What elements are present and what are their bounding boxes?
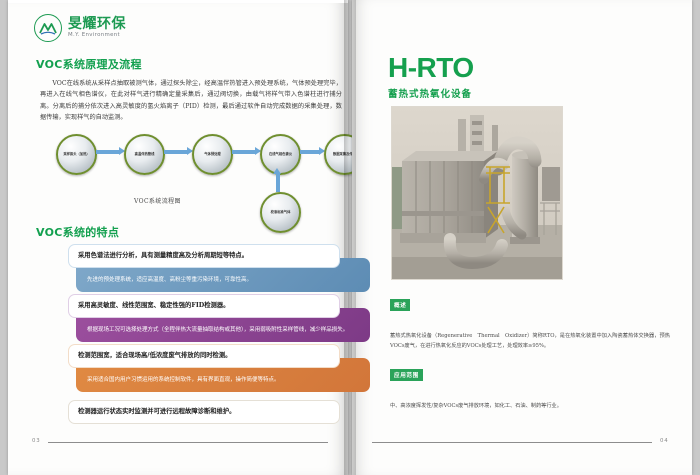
page-right-footer-rule	[372, 442, 652, 443]
flow-arrow-4	[300, 150, 320, 154]
feature-primary-panel: 采用高灵敏度、线性范围宽、稳定性强的FID检测器。	[68, 294, 340, 318]
page-gutter	[344, 0, 356, 475]
page-left-footer-rule	[48, 442, 328, 443]
feature-primary-panel: 采用色谱法进行分析，具有测量精度高及分析周期短等特点。	[68, 244, 340, 268]
mountain-circle-logo-icon	[34, 14, 62, 42]
section-heading-voc-features: VOC系统的特点	[36, 224, 119, 240]
section-overview: 概述 蓄热式热氧化设备（Regenerative Thermal Oxidize…	[390, 292, 670, 351]
product-title: H-RTO	[388, 54, 474, 82]
section-application-scope: 应用范围 中、高浓度挥发性/复杂VOCs废气排放环境，如化工、石油、制药等行业。	[390, 362, 670, 411]
feature-primary-panel: 检测范围宽，适合现场高/低浓度废气排放的同时检测。	[68, 344, 340, 368]
flow-node-label: 气体预处理	[198, 152, 228, 156]
feature-primary-panel: 检测器运行状态实时监测并可进行远程故障诊断和维护。	[68, 400, 340, 424]
feature-block-fid-detector: 根据现场工况可选择处理方式（全程伴热大流量抽取结构或其他），采用弱吸附性采样管线…	[68, 294, 340, 318]
flow-arrow-3	[232, 150, 256, 154]
feature-block-detection-range: 采用适合国内用户习惯运用的系统控制软件，具有界面直观，操作简便等特点。 检测范围…	[68, 344, 340, 368]
flow-node-label: 采样探头（加热）	[62, 152, 92, 156]
brand-logo: 旻耀环保 M.Y. Environment	[34, 14, 126, 42]
feature-primary-text: 采用高灵敏度、线性范围宽、稳定性强的FID检测器。	[78, 301, 330, 311]
voc-flow-diagram: 采样探头（加热） 高温伴热管线 气体预处理 在线气相色谱仪 数据采集及传输 校准…	[38, 134, 348, 218]
feature-secondary-text: 根据现场工况可选择处理方式（全程伴热大流量抽取结构或其他），采用弱吸附性采样管线…	[87, 316, 359, 335]
section-body-overview: 蓄热式热氧化设备（Regenerative Thermal Oxidizer）简…	[390, 331, 670, 351]
brochure-spread: 旻耀环保 M.Y. Environment VOC系统原理及流程 VOC在线系统…	[0, 0, 700, 475]
feature-block-remote-monitoring: 检测器运行状态实时监测并可进行远程故障诊断和维护。	[68, 400, 340, 424]
flow-node-label: 校准标准气体	[266, 210, 296, 214]
flow-arrow-1	[96, 150, 120, 154]
page-number-right: 04	[660, 438, 668, 444]
product-subtitle: 蓄热式热氧化设备	[388, 86, 474, 100]
page-left-top-band	[8, 0, 348, 3]
flow-node-heated-line: 高温伴热管线	[124, 134, 165, 175]
flow-node-sampling-probe: 采样探头（加热）	[56, 134, 97, 175]
section-body-application-scope: 中、高浓度挥发性/复杂VOCs废气排放环境，如化工、石油、制药等行业。	[390, 401, 670, 411]
product-title-block: H-RTO 蓄热式热氧化设备	[388, 54, 474, 100]
section-label-overview: 概述	[390, 299, 410, 311]
rto-equipment-photo	[391, 106, 563, 280]
flow-node-calibration-gas: 校准标准气体	[260, 192, 301, 233]
flow-arrow-2	[164, 150, 188, 154]
brand-name-cn: 旻耀环保	[68, 17, 126, 31]
flow-node-label: 在线气相色谱仪	[266, 152, 296, 156]
feature-secondary-text: 采用适合国内用户习惯运用的系统控制软件，具有界面直观，操作简便等特点。	[87, 366, 359, 385]
feature-block-chromatography: 先进的预处理系统，适应高温度、高粉尘等重污染环境，可靠性高。 采用色谱法进行分析…	[68, 244, 340, 268]
feature-secondary-text: 先进的预处理系统，适应高温度、高粉尘等重污染环境，可靠性高。	[87, 266, 359, 285]
flow-arrow-5	[276, 174, 280, 192]
voc-principle-paragraph: VOC在线系统从采样点抽取被测气体，通过探头除尘，经高温伴热管进入预处理系统，气…	[40, 78, 342, 124]
flow-node-gas-pretreatment: 气体预处理	[192, 134, 233, 175]
feature-primary-text: 检测范围宽，适合现场高/低浓度废气排放的同时检测。	[78, 351, 330, 361]
section-label-application-scope: 应用范围	[390, 369, 423, 381]
section-heading-voc-principle: VOC系统原理及流程	[36, 56, 142, 72]
feature-primary-text: 检测器运行状态实时监测并可进行远程故障诊断和维护。	[78, 407, 330, 417]
flow-diagram-caption: VOC系统流程图	[134, 196, 181, 205]
page-number-left: 03	[32, 438, 40, 444]
brand-name-en: M.Y. Environment	[68, 33, 126, 38]
page-left: 旻耀环保 M.Y. Environment VOC系统原理及流程 VOC在线系统…	[8, 0, 348, 475]
flow-node-label: 高温伴热管线	[130, 152, 160, 156]
page-right: H-RTO 蓄热式热氧化设备	[352, 0, 692, 475]
feature-primary-text: 采用色谱法进行分析，具有测量精度高及分析周期短等特点。	[78, 251, 330, 261]
